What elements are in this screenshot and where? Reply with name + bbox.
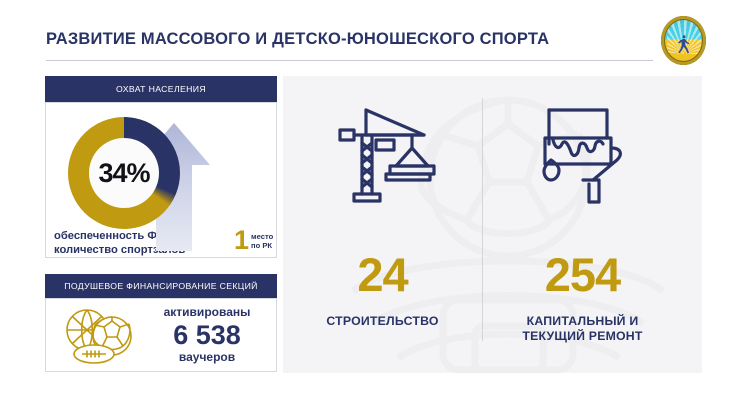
voucher-activated-label: активированы [144, 305, 270, 320]
rank-badge: 1 место по РК [234, 227, 276, 259]
title-divider [46, 60, 653, 61]
construction-crane-icon [328, 102, 438, 204]
donut-value-label: 34% [68, 117, 180, 229]
vouchers-card-header: ПОДУШЕВОЕ ФИНАНСИРОВАНИЕ СЕКЦИЙ [45, 274, 277, 298]
stat-repair-label: КАПИТАЛЬНЫЙ И ТЕКУЩИЙ РЕМОНТ [483, 314, 682, 343]
coverage-card: 34% обеспеченность ФОК количество спортз… [45, 102, 277, 258]
rank-text: место по РК [251, 227, 273, 251]
rank-number: 1 [234, 227, 249, 253]
voucher-count: 6 538 [144, 320, 270, 350]
voucher-text-block: активированы 6 538 ваучеров [144, 305, 270, 365]
stat-repair-value: 254 [483, 250, 682, 300]
kazakhstan-regional-emblem-icon [661, 16, 706, 65]
rank-text-line2: по РК [251, 241, 273, 250]
sports-balls-icon [60, 307, 142, 365]
coverage-donut-chart: 34% [68, 117, 190, 235]
vouchers-card: активированы 6 538 ваучеров [45, 298, 277, 372]
statistics-panel: 24 СТРОИТЕЛЬСТВО 254 КАПИТАЛЬН [283, 76, 702, 373]
coverage-card-header: ОХВАТ НАСЕЛЕНИЯ [45, 76, 277, 102]
stat-construction: 24 СТРОИТЕЛЬСТВО [283, 76, 482, 373]
stat-repair-label-line2: ТЕКУЩИЙ РЕМОНТ [483, 329, 682, 344]
emblem-border-band [661, 16, 706, 65]
stat-construction-label: СТРОИТЕЛЬСТВО [283, 314, 482, 329]
paint-roller-icon [531, 102, 635, 210]
stat-repair: 254 КАПИТАЛЬНЫЙ И ТЕКУЩИЙ РЕМОНТ [483, 76, 682, 373]
voucher-unit-label: ваучеров [144, 350, 270, 365]
rank-text-line1: место [251, 232, 273, 241]
page-title: РАЗВИТИЕ МАССОВОГО И ДЕТСКО-ЮНОШЕСКОГО С… [46, 30, 549, 49]
page-header: РАЗВИТИЕ МАССОВОГО И ДЕТСКО-ЮНОШЕСКОГО С… [0, 0, 740, 70]
stat-repair-label-line1: КАПИТАЛЬНЫЙ И [483, 314, 682, 329]
stat-construction-value: 24 [283, 250, 482, 300]
